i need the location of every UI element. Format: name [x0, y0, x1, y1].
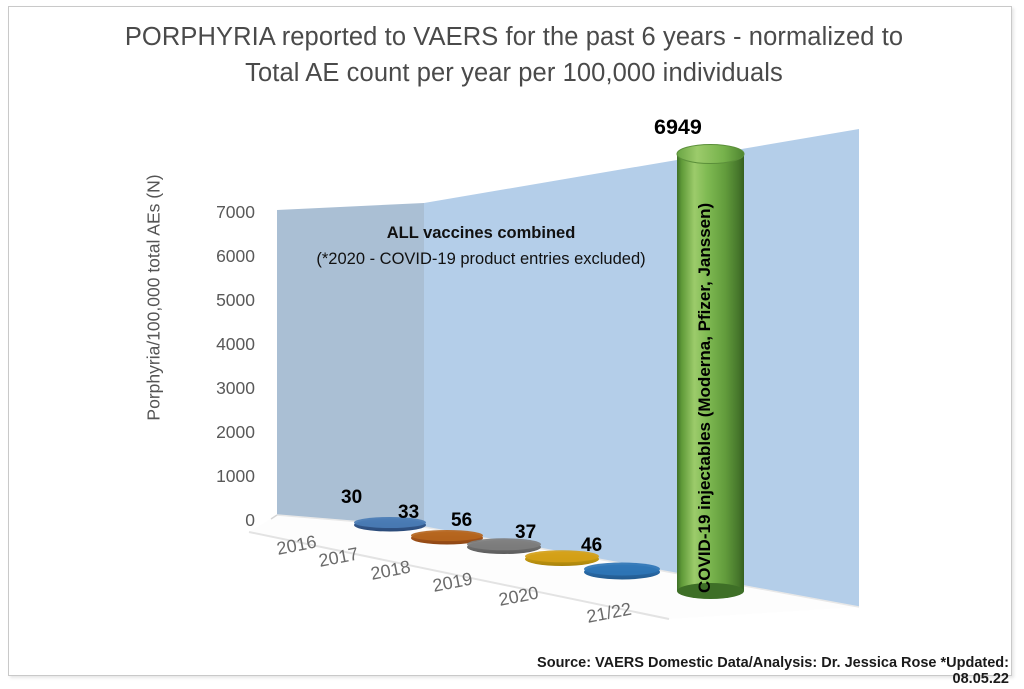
back-wall	[424, 129, 859, 607]
y-tick-2000: 2000	[199, 423, 255, 441]
y-tick-5000: 5000	[199, 291, 255, 309]
y-tick-0: 0	[199, 511, 255, 529]
y-tick-6000: 6000	[199, 247, 255, 265]
y-tick-1000: 1000	[199, 467, 255, 485]
chart-frame: PORPHYRIA reported to VAERS for the past…	[8, 6, 1012, 676]
value-label-2019: 37	[515, 522, 536, 544]
y-tick-3000: 3000	[199, 379, 255, 397]
value-label-2018: 56	[451, 510, 472, 532]
value-label-2016: 30	[341, 487, 362, 509]
y-axis-title: Porphyria/100,000 total AEs (N)	[144, 133, 165, 463]
source-footer: Source: VAERS Domestic Data/Analysis: Dr…	[479, 655, 1009, 687]
y-tick-7000: 7000	[199, 203, 255, 221]
y-tick-4000: 4000	[199, 335, 255, 353]
value-label-2017: 33	[398, 502, 419, 524]
value-label-21-22: 6949	[654, 115, 702, 140]
annotation-bold: ALL vaccines combined	[271, 220, 691, 246]
value-label-2020: 46	[581, 535, 602, 557]
bar-2020	[584, 563, 660, 580]
annotation-sub: (*2020 - COVID-19 product entries exclud…	[271, 246, 691, 272]
bar-caption-covid: COVID-19 injectables (Moderna, Pfizer, J…	[695, 203, 715, 593]
plot-annotation: ALL vaccines combined (*2020 - COVID-19 …	[271, 220, 691, 272]
